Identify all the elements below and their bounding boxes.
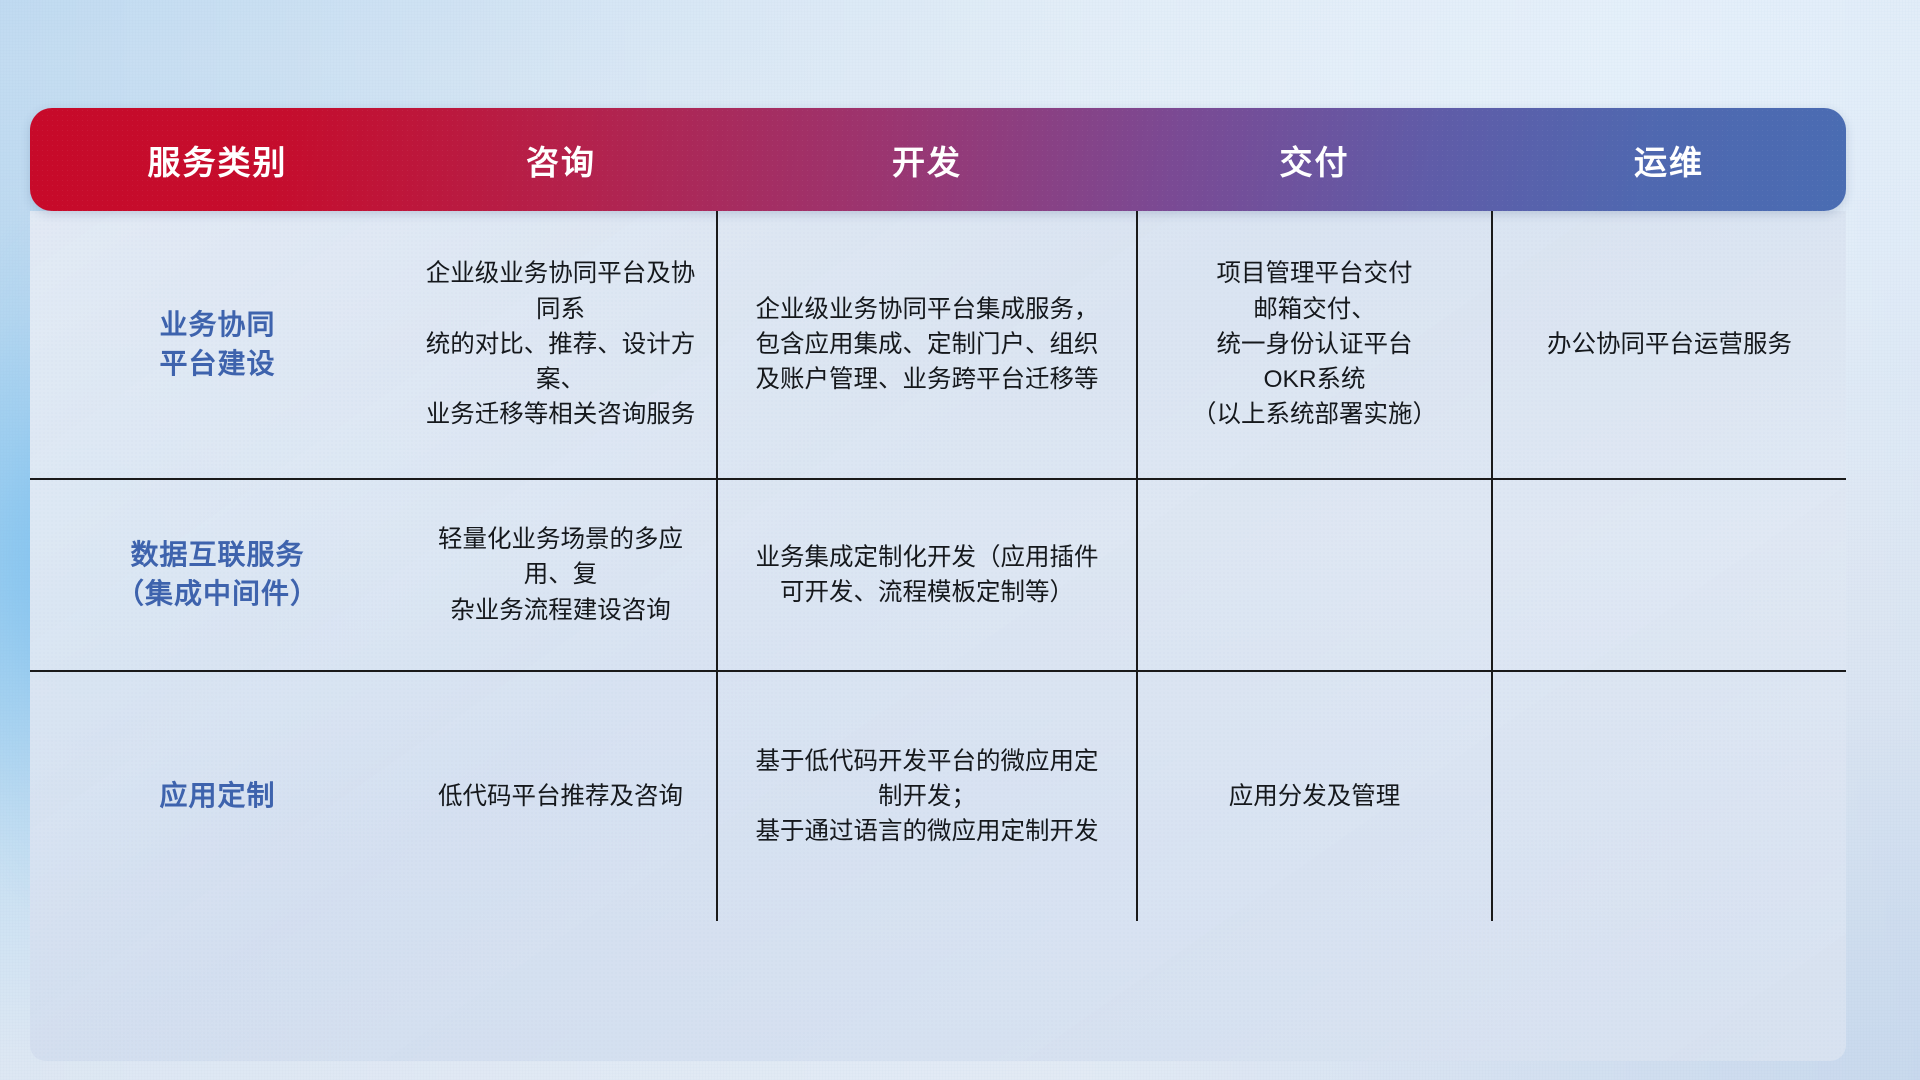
table-header-row: 服务类别 咨询 开发 交付 运维 bbox=[30, 108, 1846, 211]
cell-consulting: 低代码平台推荐及咨询 bbox=[405, 671, 717, 921]
cell-development: 业务集成定制化开发（应用插件 可开发、流程模板定制等） bbox=[717, 479, 1137, 671]
service-matrix-card: 服务类别 咨询 开发 交付 运维 业务协同 平台建设 企业级业务协同平台及协同系… bbox=[30, 108, 1846, 921]
table-row: 数据互联服务 （集成中间件） 轻量化业务场景的多应用、复 杂业务流程建设咨询 业… bbox=[30, 479, 1846, 671]
column-header-category[interactable]: 服务类别 bbox=[30, 108, 405, 211]
row-category-label: 业务协同 平台建设 bbox=[30, 211, 405, 479]
table-header-row-group: 服务类别 咨询 开发 交付 运维 bbox=[30, 108, 1846, 211]
table-grid: 服务类别 咨询 开发 交付 运维 业务协同 平台建设 企业级业务协同平台及协同系… bbox=[30, 108, 1846, 921]
cell-delivery bbox=[1137, 479, 1492, 671]
cell-development: 企业级业务协同平台集成服务， 包含应用集成、定制门户、组织 及账户管理、业务跨平… bbox=[717, 211, 1137, 479]
table-row: 业务协同 平台建设 企业级业务协同平台及协同系 统的对比、推荐、设计方案、 业务… bbox=[30, 211, 1846, 479]
cell-development: 基于低代码开发平台的微应用定 制开发； 基于通过语言的微应用定制开发 bbox=[717, 671, 1137, 921]
row-category-label: 应用定制 bbox=[30, 671, 405, 921]
cell-consulting: 企业级业务协同平台及协同系 统的对比、推荐、设计方案、 业务迁移等相关咨询服务 bbox=[405, 211, 717, 479]
table-row: 应用定制 低代码平台推荐及咨询 基于低代码开发平台的微应用定 制开发； 基于通过… bbox=[30, 671, 1846, 921]
column-header-delivery[interactable]: 交付 bbox=[1137, 108, 1492, 211]
cell-operations bbox=[1492, 671, 1846, 921]
cell-delivery: 项目管理平台交付 邮箱交付、 统一身份认证平台 OKR系统 （以上系统部署实施） bbox=[1137, 211, 1492, 479]
column-header-operations[interactable]: 运维 bbox=[1492, 108, 1846, 211]
column-header-consulting[interactable]: 咨询 bbox=[405, 108, 717, 211]
cell-operations: 办公协同平台运营服务 bbox=[1492, 211, 1846, 479]
cell-operations bbox=[1492, 479, 1846, 671]
cell-consulting: 轻量化业务场景的多应用、复 杂业务流程建设咨询 bbox=[405, 479, 717, 671]
column-header-development[interactable]: 开发 bbox=[717, 108, 1137, 211]
cell-delivery: 应用分发及管理 bbox=[1137, 671, 1492, 921]
table-body: 业务协同 平台建设 企业级业务协同平台及协同系 统的对比、推荐、设计方案、 业务… bbox=[30, 211, 1846, 921]
row-category-label: 数据互联服务 （集成中间件） bbox=[30, 479, 405, 671]
service-matrix-table: 服务类别 咨询 开发 交付 运维 业务协同 平台建设 企业级业务协同平台及协同系… bbox=[30, 108, 1846, 921]
